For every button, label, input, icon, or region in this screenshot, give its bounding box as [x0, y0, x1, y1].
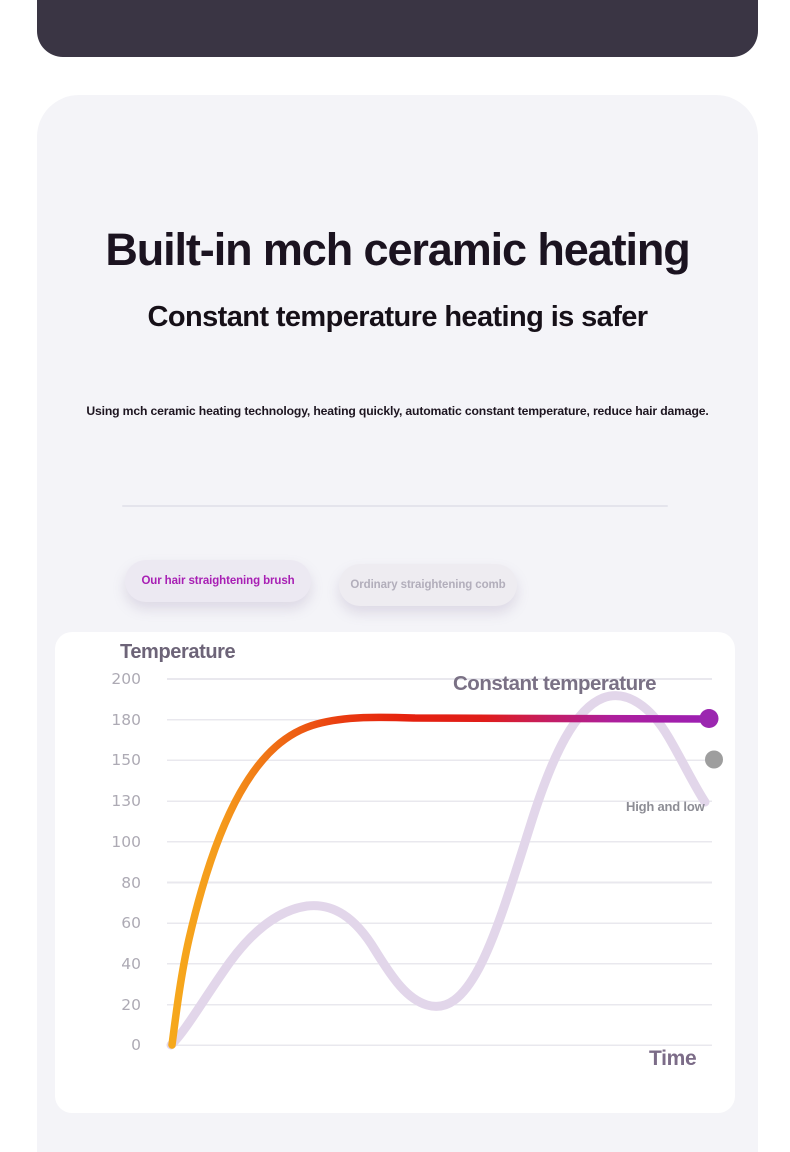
temperature-chart-card: 200 180 150 130 100 80 60 40 20 0 Temper…: [55, 632, 735, 1113]
series-our-brush-line: [172, 717, 710, 1045]
section-divider: [122, 505, 668, 507]
ytick-label: 200: [97, 672, 141, 688]
ytick-label: 150: [97, 753, 141, 769]
annotation-constant-temperature: Constant temperature: [453, 672, 656, 696]
chart-legend: Our hair straightening brush Ordinary st…: [87, 560, 708, 615]
legend-item-our-brush[interactable]: Our hair straightening brush: [125, 560, 311, 602]
page-subtitle: Constant temperature heating is safer: [37, 303, 758, 332]
chart-gridlines: [167, 679, 712, 1045]
ytick-label: 80: [97, 876, 141, 892]
ytick-label: 40: [97, 957, 141, 973]
ytick-label: 20: [97, 998, 141, 1014]
ytick-label: 60: [97, 916, 141, 932]
content-panel: Built-in mch ceramic heating Constant te…: [37, 95, 758, 1152]
y-axis-title: Temperature: [120, 641, 235, 664]
temperature-chart-svg: [55, 632, 735, 1113]
page-title: Built-in mch ceramic heating: [37, 227, 758, 272]
page-description: Using mch ceramic heating technology, he…: [37, 405, 758, 417]
ytick-label: 180: [97, 713, 141, 729]
legend-item-ordinary-comb[interactable]: Ordinary straightening comb: [339, 564, 517, 606]
series-ordinary-comb-line: [171, 696, 705, 1045]
legend-item-label: Ordinary straightening comb: [350, 579, 505, 591]
endpoint-dot-our-brush: [700, 709, 719, 728]
top-dark-bar: [37, 0, 758, 57]
annotation-high-and-low: High and low: [626, 799, 704, 814]
x-axis-title: Time: [649, 1047, 696, 1071]
ytick-label: 100: [97, 835, 141, 851]
ytick-label: 130: [97, 794, 141, 810]
endpoint-dot-ordinary-comb: [705, 751, 723, 769]
ytick-label: 0: [97, 1038, 141, 1054]
legend-item-label: Our hair straightening brush: [141, 575, 294, 587]
